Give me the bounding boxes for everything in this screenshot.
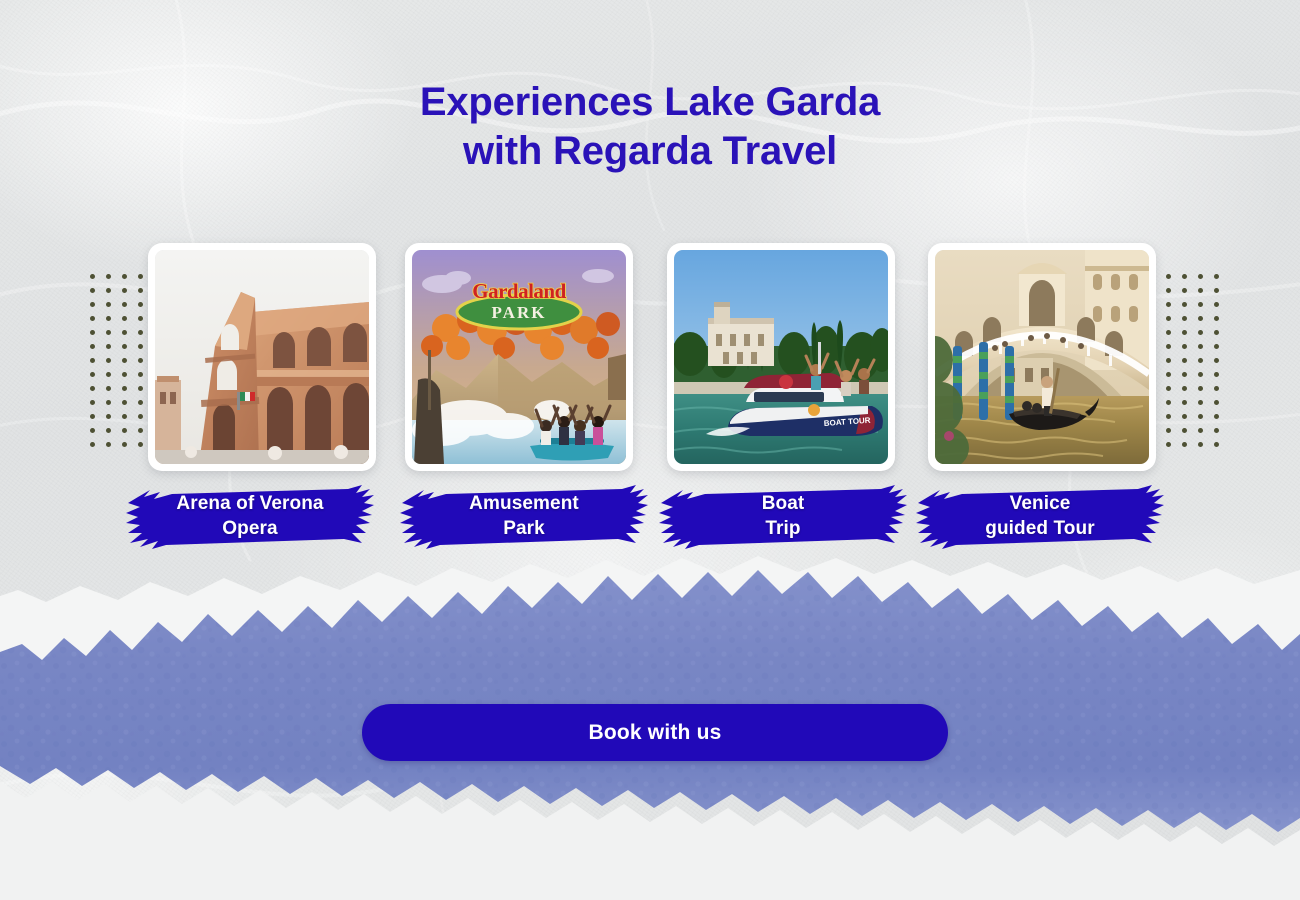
boat-trip-image: BOAT TOUR [674,250,888,464]
gardaland-park-image: PARK Gardaland [412,250,626,464]
arena-of-verona-image [155,250,369,464]
experience-label-arena-of-verona-opera: Arena of Verona Opera [126,483,374,551]
experience-label-text: Venice guided Tour [916,483,1164,551]
poster-canvas: Experiences Lake Garda with Regarda Trav… [0,0,1300,900]
experience-label-boat-trip: Boat Trip [659,483,907,551]
experience-label-text: Amusement Park [400,483,648,551]
experience-label-amusement-park: Amusement Park [400,483,648,551]
title-line-1: Experiences Lake Garda [420,80,880,124]
title-line-2: with Regarda Travel [0,127,1300,176]
svg-text:PARK: PARK [492,303,547,322]
page-title: Experiences Lake Garda with Regarda Trav… [0,78,1300,176]
experience-card-venice-guided-tour[interactable] [928,243,1156,471]
label-line-1: Boat [762,492,805,517]
label-line-1: Amusement [469,492,579,517]
experience-card-amusement-park[interactable]: PARK Gardaland [405,243,633,471]
label-line-1: Arena of Verona [176,492,323,517]
venice-guided-tour-image [935,250,1149,464]
experience-label-text: Boat Trip [659,483,907,551]
experience-card-arena-of-verona-opera[interactable] [148,243,376,471]
book-with-us-button[interactable]: Book with us [362,704,948,761]
experience-label-venice-guided-tour: Venice guided Tour [916,483,1164,551]
experience-cards-row: PARK Gardaland [0,243,1300,471]
experience-card-boat-trip[interactable]: BOAT TOUR [667,243,895,471]
label-line-2: guided Tour [985,517,1094,542]
svg-text:Gardaland: Gardaland [472,279,566,303]
label-line-1: Venice [1010,492,1071,517]
label-line-2: Opera [222,517,277,542]
label-line-2: Trip [765,517,800,542]
label-line-2: Park [503,517,545,542]
experience-label-text: Arena of Verona Opera [126,483,374,551]
